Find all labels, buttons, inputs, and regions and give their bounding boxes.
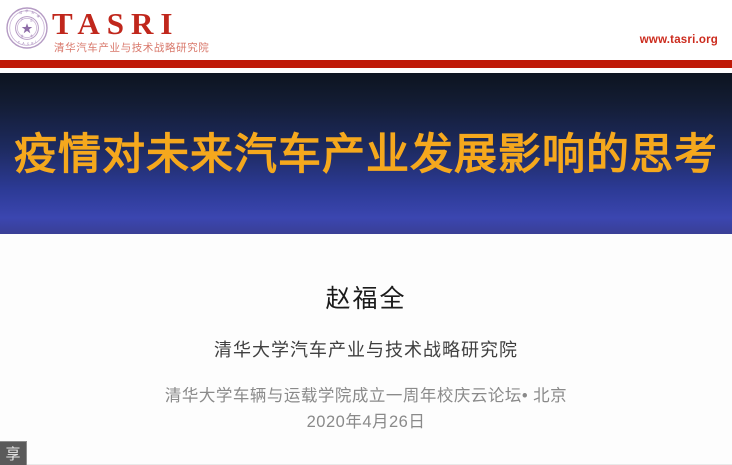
event-date: 2020年4月26日 (0, 411, 732, 433)
svg-text:产: 产 (21, 18, 24, 22)
slide-header: 清 华 大 学 T A S R I 产 业 技 术 (0, 0, 732, 60)
presentation-slide: 清 华 大 学 T A S R I 产 业 技 术 (0, 0, 732, 465)
tasri-wordmark-block: TASRI 清华汽车产业与技术战略研究院 (52, 5, 209, 54)
event-name: 清华大学车辆与运载学院成立一周年校庆云论坛• 北京 (0, 385, 732, 407)
speaker-name: 赵福全 (0, 284, 732, 314)
tasri-wordmark-text: TASRI (52, 8, 209, 39)
svg-text:清: 清 (19, 9, 22, 14)
svg-text:大: 大 (31, 9, 34, 14)
svg-text:S: S (27, 42, 29, 46)
svg-text:技: 技 (21, 34, 24, 38)
share-icon: 享 (5, 447, 20, 462)
svg-text:R: R (31, 41, 34, 45)
tasri-wordmark-chinese: 清华汽车产业与技术战略研究院 (54, 42, 209, 54)
title-band: 疫情对未来汽车产业发展影响的思考 (0, 73, 732, 234)
svg-text:术: 术 (30, 34, 33, 38)
slide-body: 赵福全 清华大学汽车产业与技术战略研究院 清华大学车辆与运载学院成立一周年校庆云… (0, 234, 732, 465)
tsinghua-seal-icon: 清 华 大 学 T A S R I 产 业 技 术 (6, 7, 48, 49)
page-title: 疫情对未来汽车产业发展影响的思考 (14, 131, 718, 179)
svg-text:T: T (17, 40, 20, 44)
svg-text:业: 业 (30, 18, 33, 22)
tasri-logo: 清 华 大 学 T A S R I 产 业 技 术 (6, 5, 209, 54)
speaker-affiliation: 清华大学汽车产业与技术战略研究院 (0, 338, 732, 362)
share-button[interactable]: 享 (0, 441, 27, 465)
website-url: www.tasri.org (640, 34, 718, 46)
svg-text:华: 华 (25, 8, 28, 13)
svg-text:学: 学 (37, 13, 40, 18)
svg-text:I: I (35, 40, 36, 44)
header-red-rule (0, 60, 732, 68)
